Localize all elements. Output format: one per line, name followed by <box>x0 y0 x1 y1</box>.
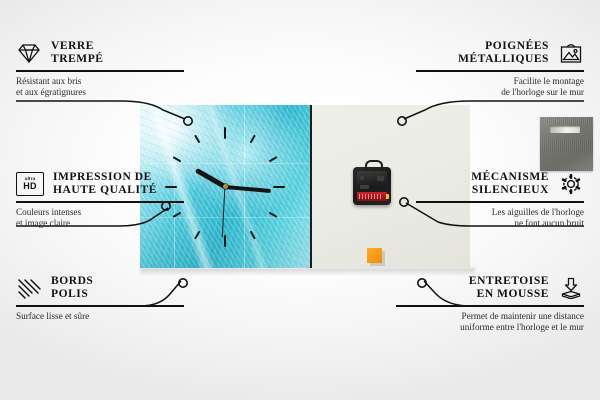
clock-tick <box>224 127 226 187</box>
wall-frame-icon <box>558 42 584 64</box>
battery-label <box>359 194 382 199</box>
callout-rule <box>16 305 184 307</box>
clock-center-hub <box>223 184 228 189</box>
callout-header: MÉCANISMESILENCIEUX <box>416 171 584 197</box>
callout-subtitle: Résistant aux briset aux égratignures <box>16 76 184 99</box>
mechanism-hanger-loop <box>365 160 383 171</box>
callout-subtitle: Les aiguilles de l'horlogene font aucun … <box>416 207 584 230</box>
callout-verre-trempe: VERRETREMPÉ Résistant aux briset aux égr… <box>16 40 184 98</box>
callout-bords-polis: BORDSPOLIS Surface lisse et sûre <box>16 275 184 322</box>
ultra-hd-badge-icon: ultra HD <box>16 172 44 196</box>
clock-mechanism <box>353 167 391 205</box>
callout-title: ENTRETOISEEN MOUSSE <box>469 275 549 301</box>
callout-poignees-metalliques: POIGNÉESMÉTALLIQUES Facilite le montaged… <box>416 40 584 98</box>
callout-header: ultra HD IMPRESSION DEHAUTE QUALITÉ <box>16 171 184 197</box>
mechanism-detail <box>360 185 369 189</box>
diamond-icon <box>16 42 42 64</box>
callout-title: POIGNÉESMÉTALLIQUES <box>458 40 549 66</box>
callout-header: ENTRETOISEEN MOUSSE <box>396 275 584 301</box>
callout-rule <box>416 70 584 72</box>
hanger-keyhole-slot <box>550 126 580 133</box>
callout-header: POIGNÉESMÉTALLIQUES <box>416 40 584 66</box>
battery <box>357 192 387 201</box>
callout-subtitle: Permet de maintenir une distanceuniforme… <box>396 311 584 334</box>
callout-header: VERRETREMPÉ <box>16 40 184 66</box>
battery-terminal <box>386 194 389 199</box>
hanger-plate <box>540 117 593 171</box>
callout-title: VERRETREMPÉ <box>51 40 104 66</box>
callout-title: IMPRESSION DEHAUTE QUALITÉ <box>53 171 157 197</box>
callout-header: BORDSPOLIS <box>16 275 184 301</box>
polished-edges-icon <box>16 277 42 299</box>
callout-entretoise-en-mousse: ENTRETOISEEN MOUSSE Permet de maintenir … <box>396 275 584 333</box>
callout-title: BORDSPOLIS <box>51 275 93 301</box>
callout-title: MÉCANISMESILENCIEUX <box>471 171 549 197</box>
hd-badge-main-text: HD <box>23 182 37 191</box>
press-down-pad-icon <box>558 277 584 299</box>
callout-rule <box>396 305 584 307</box>
mechanism-detail <box>360 176 364 180</box>
callout-subtitle: Couleurs intenseset image claire <box>16 207 184 230</box>
mechanism-detail <box>377 176 384 181</box>
gear-icon <box>558 173 584 195</box>
callout-rule <box>416 201 584 203</box>
callout-subtitle: Surface lisse et sûre <box>16 311 184 322</box>
callout-rule <box>16 70 184 72</box>
callout-impression-haute-qualite: ultra HD IMPRESSION DEHAUTE QUALITÉ Coul… <box>16 171 184 229</box>
infographic-canvas: VERRETREMPÉ Résistant aux briset aux égr… <box>0 0 600 400</box>
callout-subtitle: Facilite le montagede l'horloge sur le m… <box>416 76 584 99</box>
callout-rule <box>16 201 184 203</box>
foam-spacer <box>367 248 382 263</box>
callout-mecanisme-silencieux: MÉCANISMESILENCIEUX Les aiguilles de l'h… <box>416 171 584 229</box>
